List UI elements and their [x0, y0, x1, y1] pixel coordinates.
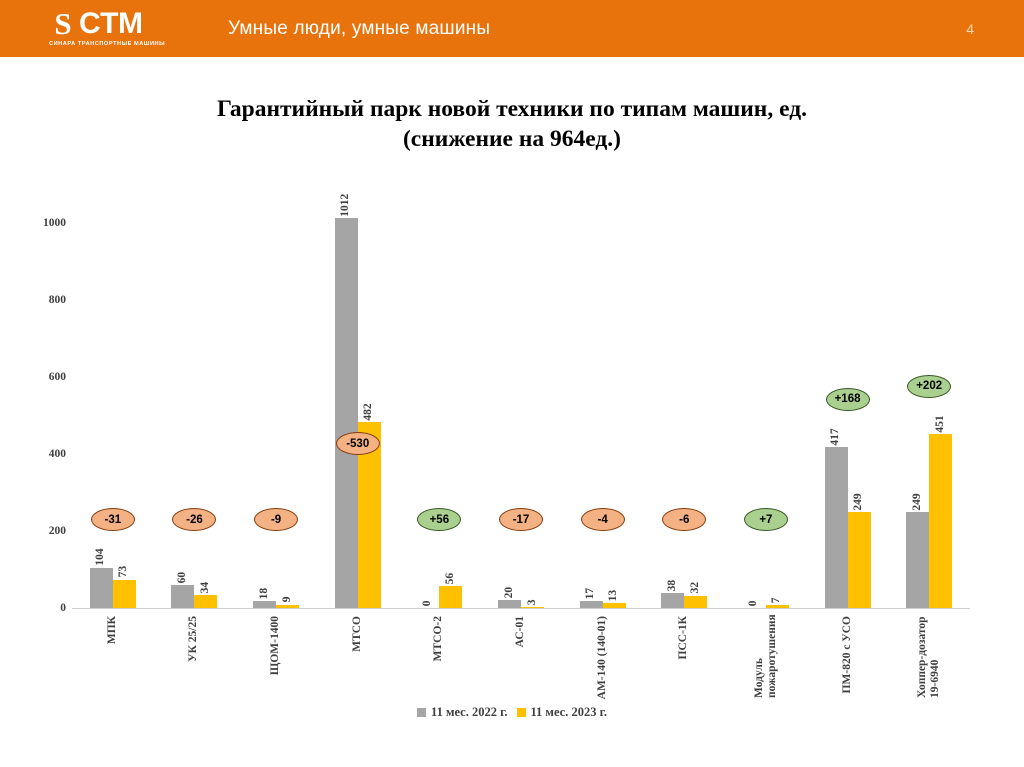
x-axis-line [72, 608, 970, 609]
bar-0 [825, 447, 848, 608]
bar-0 [253, 601, 276, 608]
delta-badge: -530 [336, 432, 380, 455]
x-axis-category-label: УК 25/25 [187, 616, 199, 662]
bar-value-label: 3 [526, 592, 538, 605]
delta-badge: -6 [662, 508, 706, 531]
bar-value-label: 17 [584, 579, 596, 599]
bar-0 [171, 585, 194, 608]
bar-1 [929, 434, 952, 608]
bar-value-label: 32 [689, 573, 701, 593]
legend-swatch-icon [417, 708, 426, 717]
bar-value-label: 451 [934, 405, 946, 433]
delta-badge: -17 [499, 508, 543, 531]
bar-0 [90, 568, 113, 608]
bar-value-label: 249 [852, 483, 864, 511]
x-axis-category-label: МТСО-2 [432, 616, 444, 661]
bar-0 [661, 593, 684, 608]
y-axis-tick-label: 0 [10, 602, 66, 614]
delta-badge: +202 [907, 375, 951, 398]
bar-1 [521, 607, 544, 608]
delta-badge: -9 [254, 508, 298, 531]
x-axis-category-label: АМ-140 (140-01) [596, 616, 608, 699]
chart-legend: 11 мес. 2022 г.11 мес. 2023 г. [0, 705, 1024, 720]
bar-value-label: 18 [258, 579, 270, 599]
bar-value-label: 73 [117, 557, 129, 577]
x-axis-category-label: Модуль пожаротушения [753, 616, 779, 698]
x-axis-category-label: АС-01 [514, 616, 526, 647]
bar-value-label: 0 [421, 593, 433, 606]
legend-label: 11 мес. 2023 г. [531, 705, 607, 720]
bar-value-label: 56 [444, 564, 456, 584]
bar-value-label: 7 [770, 590, 782, 603]
y-axis-tick-label: 200 [10, 525, 66, 537]
legend-item: 11 мес. 2023 г. [517, 705, 607, 720]
bar-value-label: 38 [666, 571, 678, 591]
bar-0 [906, 512, 929, 608]
bar-0 [335, 218, 358, 608]
delta-badge: -26 [172, 508, 216, 531]
bar-value-label: 60 [176, 563, 188, 583]
bar-value-label: 104 [94, 538, 106, 566]
legend-label: 11 мес. 2022 г. [431, 705, 507, 720]
bar-value-label: 20 [503, 578, 515, 598]
bar-value-label: 0 [747, 593, 759, 606]
delta-badge: +56 [417, 508, 461, 531]
bar-chart: 0200400600800100010473-31МПК6034-26УК 25… [0, 0, 1024, 767]
bar-value-label: 34 [199, 573, 211, 593]
delta-badge: -4 [581, 508, 625, 531]
bar-1 [276, 605, 299, 608]
bar-1 [684, 596, 707, 608]
bar-value-label: 482 [362, 393, 374, 421]
legend-swatch-icon [517, 708, 526, 717]
bar-value-label: 417 [829, 418, 841, 446]
bar-1 [766, 605, 789, 608]
y-axis-tick-label: 400 [10, 448, 66, 460]
bar-1 [848, 512, 871, 608]
bar-value-label: 1012 [339, 182, 351, 217]
x-axis-category-label: ЩОМ-1400 [269, 616, 281, 675]
bar-value-label: 249 [911, 483, 923, 511]
y-axis-tick-label: 1000 [10, 217, 66, 229]
bar-1 [603, 603, 626, 608]
y-axis-tick-label: 800 [10, 294, 66, 306]
x-axis-category-label: Хоппер-дозатор 19-6940 [916, 616, 942, 698]
bar-0 [580, 601, 603, 608]
x-axis-category-label: МТСО [351, 616, 363, 652]
x-axis-category-label: МПК [106, 616, 118, 644]
bar-value-label: 9 [281, 589, 293, 602]
delta-badge: +7 [744, 508, 788, 531]
x-axis-category-label: ПСС-1К [677, 616, 689, 659]
x-axis-category-label: ПМ-820 с УСО [841, 616, 853, 693]
bar-0 [498, 600, 521, 608]
delta-badge: -31 [91, 508, 135, 531]
bar-1 [439, 586, 462, 608]
y-axis-tick-label: 600 [10, 371, 66, 383]
delta-badge: +168 [826, 388, 870, 411]
bar-value-label: 13 [607, 581, 619, 601]
bar-1 [113, 580, 136, 608]
bar-1 [194, 595, 217, 608]
legend-item: 11 мес. 2022 г. [417, 705, 507, 720]
